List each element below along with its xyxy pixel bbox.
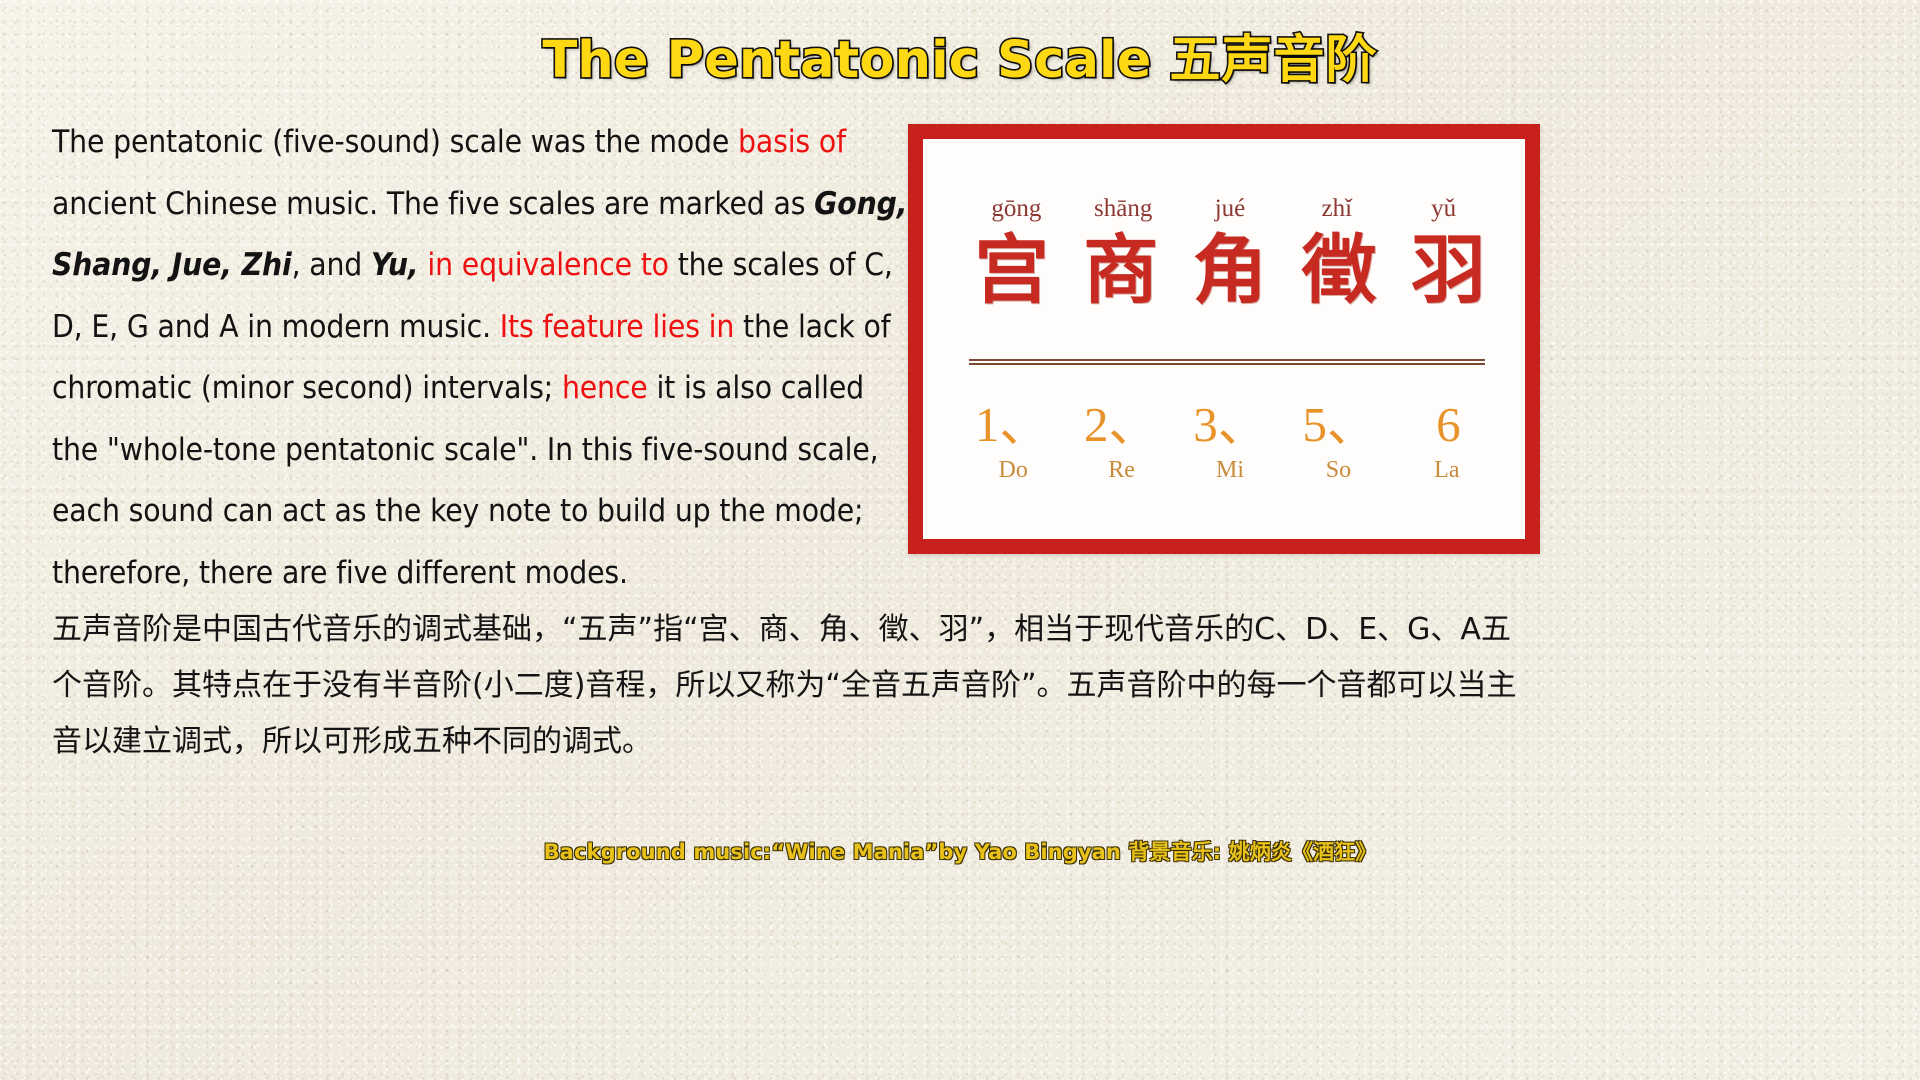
pinyin-label-5: yǔ [1390, 195, 1497, 223]
number-notation-5: 6 [1394, 396, 1503, 453]
hanzi-character-1: 宫 [957, 231, 1066, 310]
pinyin-row: gōngshāngjuézhǐyǔ [963, 195, 1497, 223]
pinyin-label-4: zhǐ [1283, 195, 1390, 223]
page-title-cn: 五声音阶 [1170, 31, 1378, 90]
pinyin-label-2: shāng [1070, 195, 1177, 223]
number-notation-1: 1、 [957, 385, 1066, 456]
highlighted-text: Its feature lies in [500, 309, 734, 345]
number-notation-2: 2、 [1066, 385, 1175, 456]
number-notation-4: 5、 [1285, 385, 1394, 456]
hanzi-character-3: 角 [1175, 231, 1284, 310]
page-title: The Pentatonic Scale 五声音阶 [542, 18, 1377, 92]
solfege-row: DoReMiSoLa [959, 457, 1501, 484]
hanzi-character-2: 商 [1066, 231, 1175, 310]
body-text: ancient Chinese music. The five scales a… [52, 186, 814, 222]
body-text: , and [292, 247, 371, 283]
solfege-label-5: La [1393, 457, 1501, 484]
solfege-label-4: So [1284, 457, 1392, 484]
figure-divider [969, 359, 1485, 365]
slide-title-area: The Pentatonic Scale 五声音阶 [0, 18, 1920, 90]
solfege-label-1: Do [959, 457, 1067, 484]
highlighted-text: in equivalence to [427, 247, 668, 283]
highlighted-text: basis of [738, 124, 846, 160]
highlighted-text: hence [562, 370, 648, 406]
pinyin-label-3: jué [1177, 195, 1284, 223]
english-paragraph: The pentatonic (five-sound) scale was th… [52, 112, 918, 604]
hanzi-character-5: 羽 [1394, 231, 1503, 310]
body-text: The pentatonic (five-sound) scale was th… [52, 124, 738, 160]
hanzi-character-4: 徵 [1285, 231, 1394, 310]
number-notation-row: 1、2、3、5、6 [957, 385, 1503, 456]
pentatonic-scale-figure: gōngshāngjuézhǐyǔ 宫商角徵羽 1、2、3、5、6 DoReMi… [908, 124, 1540, 554]
number-notation-3: 3、 [1175, 385, 1284, 456]
figure-inner: gōngshāngjuézhǐyǔ 宫商角徵羽 1、2、3、5、6 DoReMi… [923, 139, 1525, 539]
pinyin-label-1: gōng [963, 195, 1070, 223]
solfege-label-2: Re [1067, 457, 1175, 484]
page-title-en: The Pentatonic Scale [542, 31, 1169, 90]
hanzi-row: 宫商角徵羽 [957, 231, 1503, 310]
solfege-label-3: Mi [1176, 457, 1284, 484]
footer-credit: Background music:“Wine Mania”by Yao Bing… [0, 836, 1920, 866]
chinese-paragraph: 五声音阶是中国古代音乐的调式基础，“五声”指“宫、商、角、徵、羽”，相当于现代音… [52, 602, 1532, 770]
emphasized-term: Yu, [371, 247, 419, 283]
